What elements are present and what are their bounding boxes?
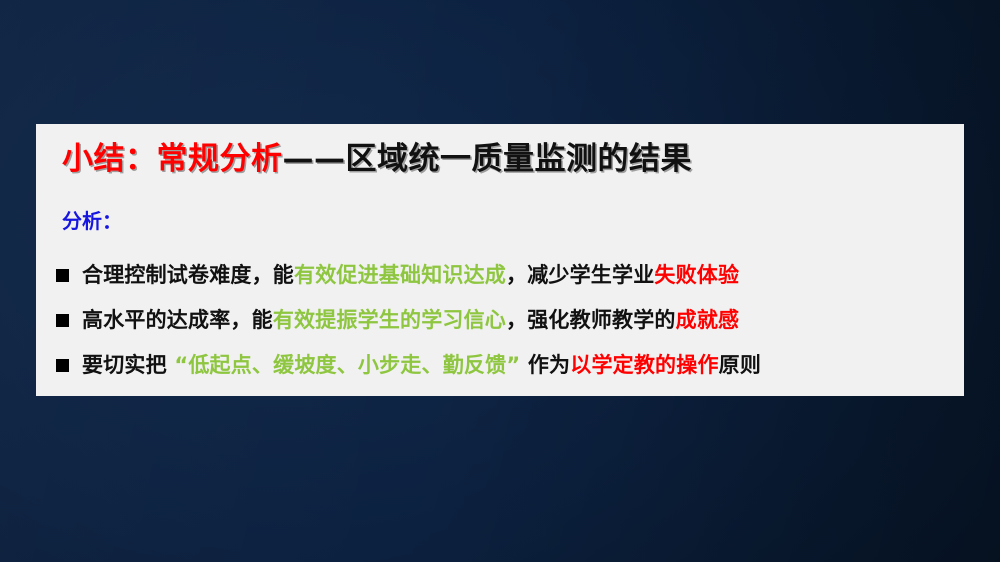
square-bullet-icon: [56, 359, 69, 372]
list-item-text: 要切实把 “低起点、缓坡度、小步走、勤反馈” 作为以学定教的操作原则: [82, 351, 761, 379]
text-run-emphasis: 成就感: [676, 308, 740, 332]
text-run: ，减少学生学业: [506, 263, 654, 287]
analysis-bullet-list: 合理控制试卷难度，能有效促进基础知识达成，减少学生学业失败体验 高水平的达成率，…: [56, 252, 956, 387]
slide-canvas: 小结：常规分析——区域统一质量监测的结果 分析： 合理控制试卷难度，能有效促进基…: [0, 0, 1000, 562]
page-title-black-segment: ——区域统一质量监测的结果: [283, 141, 693, 177]
text-run: 要切实把: [82, 353, 174, 377]
square-bullet-icon: [56, 269, 69, 282]
text-run: 高水平的达成率，能: [82, 308, 273, 332]
text-run: ，强化教师教学的: [506, 308, 676, 332]
text-run: 合理控制试卷难度，能: [82, 263, 294, 287]
square-bullet-icon: [56, 314, 69, 327]
list-item: 要切实把 “低起点、缓坡度、小步走、勤反馈” 作为以学定教的操作原则: [56, 342, 956, 387]
list-item-text: 合理控制试卷难度，能有效促进基础知识达成，减少学生学业失败体验: [82, 261, 739, 289]
page-title: 小结：常规分析——区域统一质量监测的结果: [62, 136, 692, 182]
text-run-emphasis: 失败体验: [654, 263, 739, 287]
analysis-label: 分析：: [62, 208, 122, 234]
page-title-red-segment: 小结：常规分析: [62, 141, 283, 177]
list-item: 高水平的达成率，能有效提振学生的学习信心，强化教师教学的成就感: [56, 297, 956, 342]
list-item: 合理控制试卷难度，能有效促进基础知识达成，减少学生学业失败体验: [56, 252, 956, 297]
text-run: 作为: [520, 353, 570, 377]
text-run-highlight: 有效提振学生的学习信心: [273, 308, 506, 332]
text-run-highlight: 有效促进基础知识达成: [294, 263, 506, 287]
list-item-text: 高水平的达成率，能有效提振学生的学习信心，强化教师教学的成就感: [82, 306, 739, 334]
content-card: 小结：常规分析——区域统一质量监测的结果 分析： 合理控制试卷难度，能有效促进基…: [36, 124, 964, 396]
text-run: 原则: [719, 353, 761, 377]
text-run-emphasis: 以学定教的操作: [570, 353, 718, 377]
text-run-highlight: “低起点、缓坡度、小步走、勤反馈”: [174, 353, 520, 377]
